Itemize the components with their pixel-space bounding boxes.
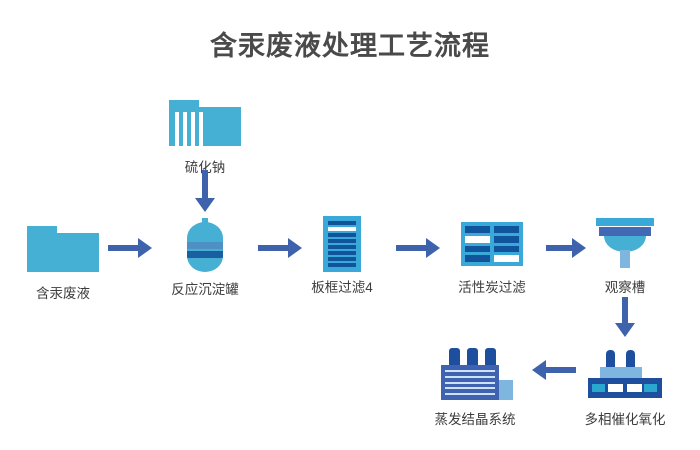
factory-two-stacks-icon xyxy=(560,344,690,406)
node-label-observation-tank: 观察槽 xyxy=(560,280,690,296)
grid-filter-icon xyxy=(427,212,557,274)
node-label-plate-frame-filter: 板框过滤4 xyxy=(277,280,407,296)
flowchart-canvas: 含汞废液处理工艺流程 硫化钠 含汞废液 xyxy=(0,0,700,450)
capsule-tank-icon xyxy=(140,214,270,276)
page-title: 含汞废液处理工艺流程 xyxy=(0,24,700,63)
plate-filter-icon xyxy=(277,212,407,274)
node-label-reaction-precipitation-tank: 反应沉淀罐 xyxy=(140,282,270,298)
node-evaporation-crystallization[interactable]: 蒸发结晶系统 xyxy=(410,344,540,428)
folder-striped-icon xyxy=(140,92,270,154)
funnel-icon xyxy=(560,212,690,274)
arrow-observation-to-oxidation xyxy=(611,297,639,339)
node-reaction-precipitation-tank[interactable]: 反应沉淀罐 xyxy=(140,214,270,298)
node-catalytic-oxidation[interactable]: 多相催化氧化 xyxy=(560,344,690,428)
node-plate-frame-filter[interactable]: 板框过滤4 xyxy=(277,212,407,296)
node-label-evaporation-crystallization: 蒸发结晶系统 xyxy=(410,412,540,428)
node-observation-tank[interactable]: 观察槽 xyxy=(560,212,690,296)
node-label-activated-carbon-filter: 活性炭过滤 xyxy=(427,280,557,296)
node-label-mercury-waste-liquid: 含汞废液 xyxy=(0,286,128,302)
factory-three-stacks-icon xyxy=(410,344,540,406)
node-sodium-sulfide[interactable]: 硫化钠 xyxy=(140,92,270,176)
arrow-sulfide-to-tank xyxy=(191,170,219,214)
node-mercury-waste-liquid[interactable]: 含汞废液 xyxy=(0,218,128,302)
node-activated-carbon-filter[interactable]: 活性炭过滤 xyxy=(427,212,557,296)
node-label-catalytic-oxidation: 多相催化氧化 xyxy=(560,412,690,428)
